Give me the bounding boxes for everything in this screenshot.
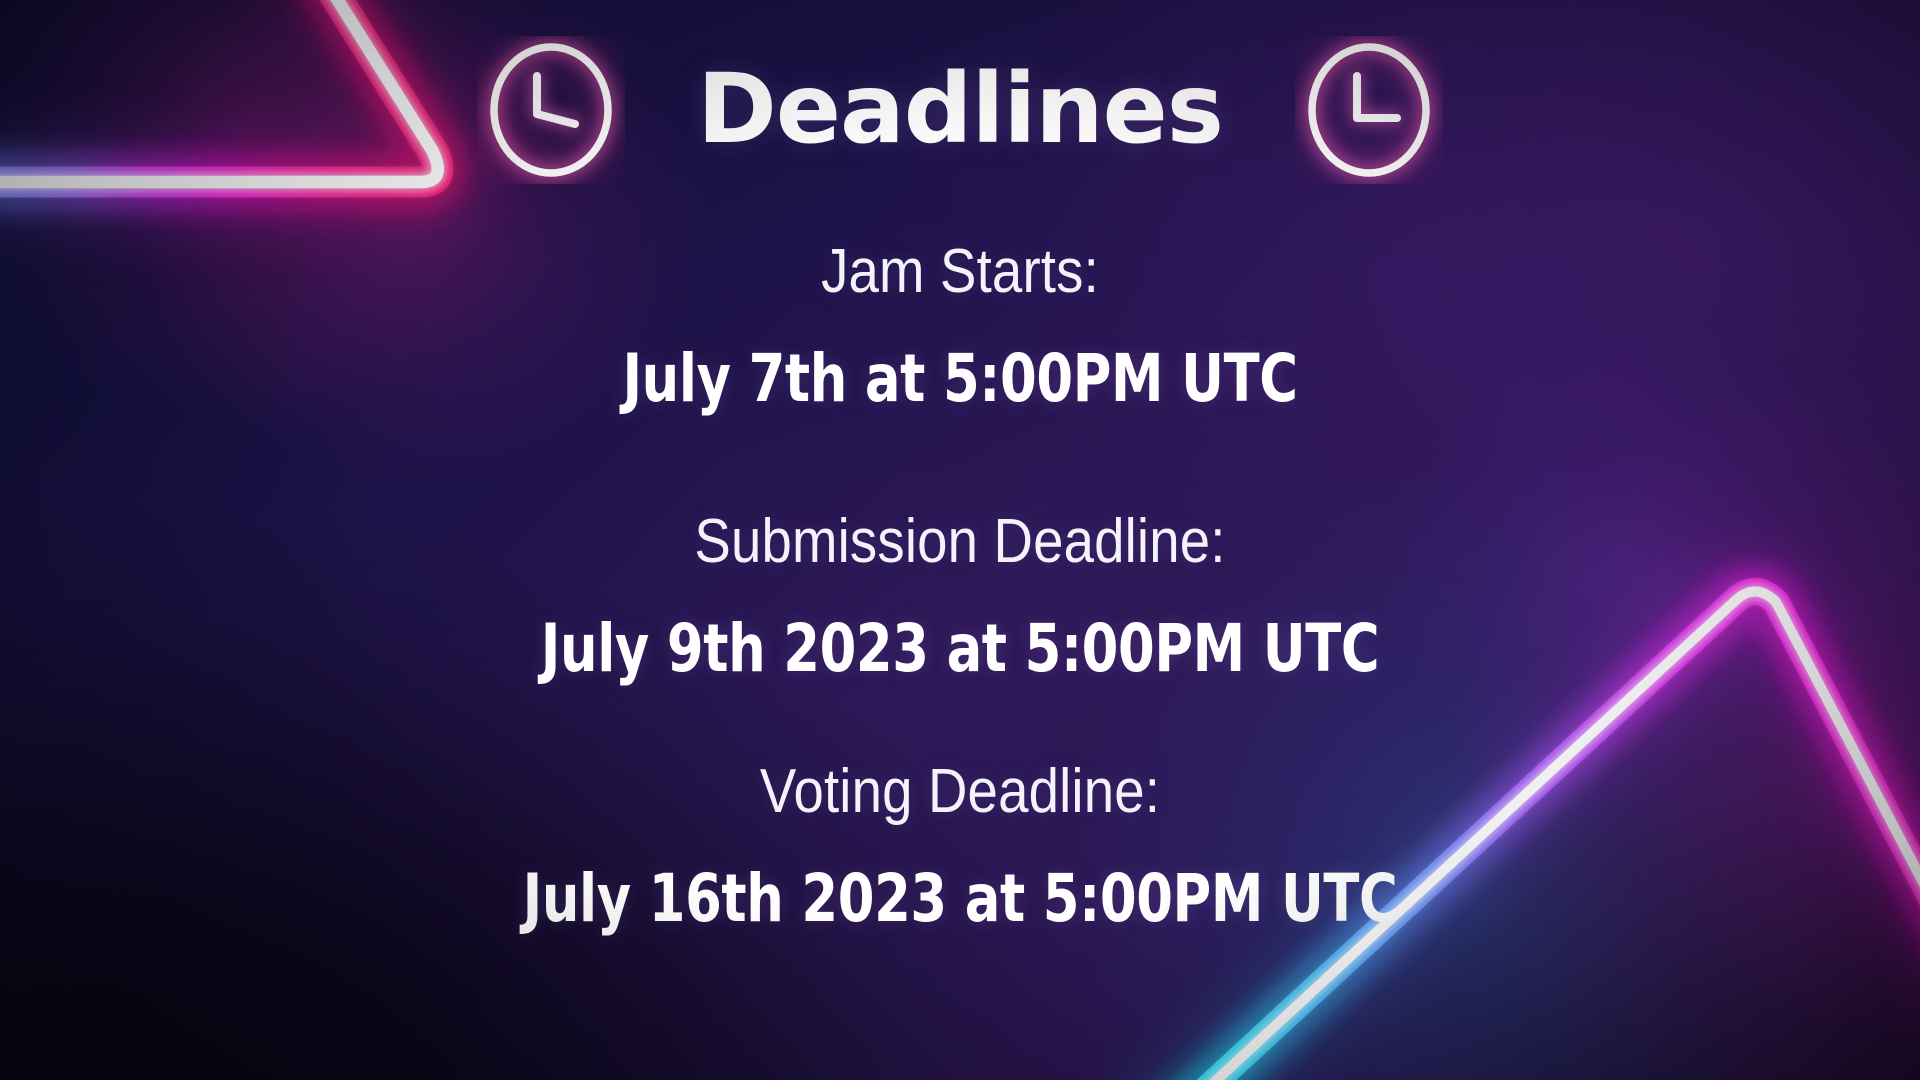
deadlines-poster: Deadlines Jam Starts: July 7th at 5:00PM… <box>0 0 1920 1080</box>
deadline-label: Voting Deadline: <box>115 752 1805 831</box>
page-title: Deadlines <box>697 58 1223 162</box>
header-row: Deadlines <box>0 36 1920 184</box>
deadline-block: Submission Deadline: July 9th 2023 at 5:… <box>0 502 1920 691</box>
deadline-label: Jam Starts: <box>115 232 1805 311</box>
clock-icon <box>477 36 625 184</box>
deadline-label: Submission Deadline: <box>115 502 1805 581</box>
deadline-block: Voting Deadline: July 16th 2023 at 5:00P… <box>0 752 1920 941</box>
deadline-value: July 9th 2023 at 5:00PM UTC <box>192 607 1728 690</box>
clock-icon <box>1295 36 1443 184</box>
deadline-value: July 7th at 5:00PM UTC <box>192 337 1728 420</box>
deadline-block: Jam Starts: July 7th at 5:00PM UTC <box>0 232 1920 421</box>
deadline-value: July 16th 2023 at 5:00PM UTC <box>192 857 1728 940</box>
